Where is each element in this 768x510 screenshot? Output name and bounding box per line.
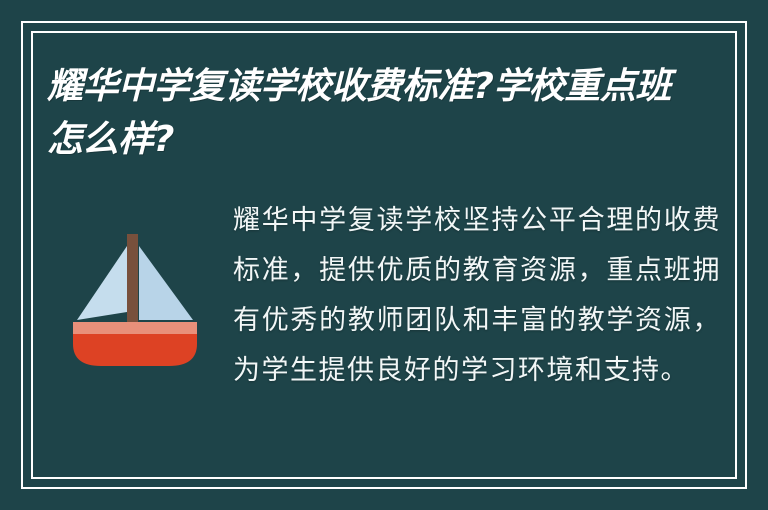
sailboat-illustration <box>65 210 205 375</box>
content-row: 耀华中学复读学校坚持公平合理的收费标准，提供优质的教育资源，重点班拥有优秀的教师… <box>47 196 721 460</box>
sailboat-icon <box>65 210 205 370</box>
page-title: 耀华中学复读学校收费标准?学校重点班怎么样? <box>47 60 687 166</box>
poster-canvas: 耀华中学复读学校收费标准?学校重点班怎么样? 耀华中学复读学校坚持公平合理的收费… <box>0 0 768 510</box>
body-paragraph: 耀华中学复读学校坚持公平合理的收费标准，提供优质的教育资源，重点班拥有优秀的教师… <box>233 196 721 396</box>
